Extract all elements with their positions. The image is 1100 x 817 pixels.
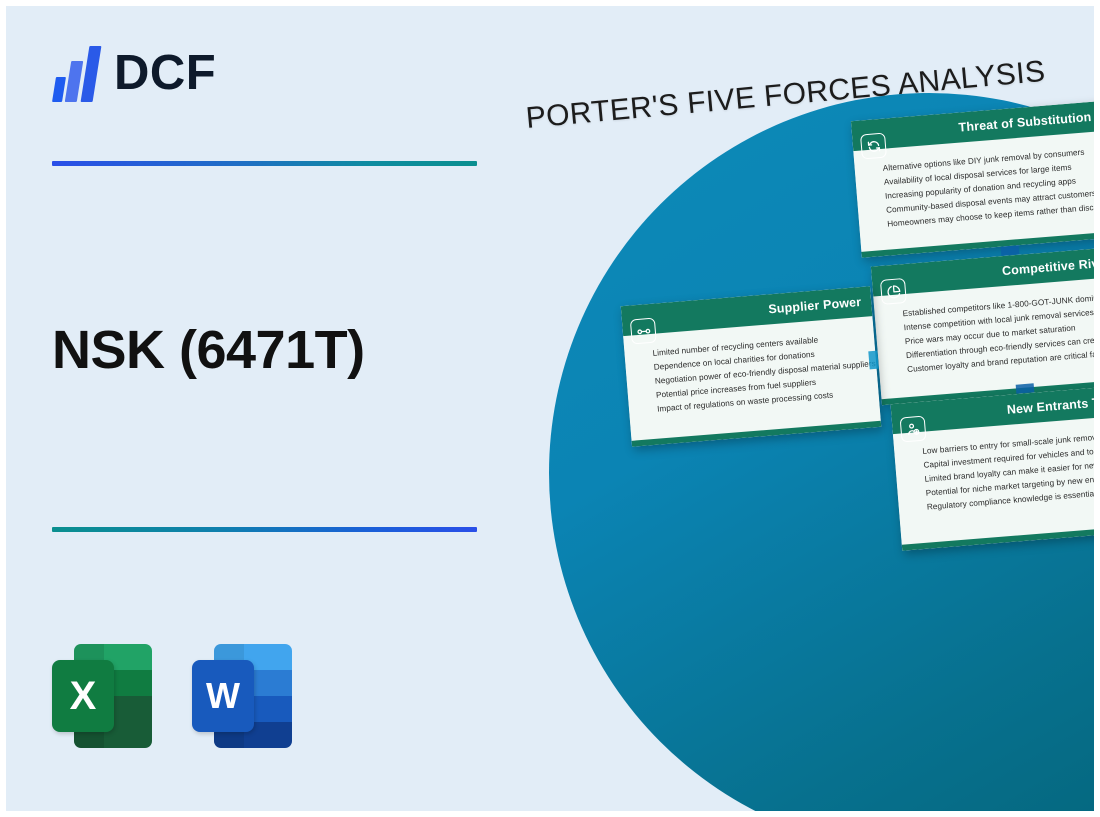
force-card-threat-of-substitution[interactable]: Threat of Substitution Alternative optio… <box>851 101 1100 258</box>
card-body: Limited number of recycling centers avai… <box>623 316 881 441</box>
card-body: Established competitors like 1-800-GOT-J… <box>873 276 1100 400</box>
porters-five-forces-panel: PORTER'S FIVE FORCES ANALYSIS Threat of … <box>546 6 1100 817</box>
brand-logo[interactable]: DCF <box>52 44 216 102</box>
export-format-row: X W <box>52 641 292 751</box>
card-point-list: Low barriers to entry for small-scale ju… <box>922 428 1100 515</box>
left-info-column: DCF NSK (6471T) X W <box>6 6 546 811</box>
card-point-list: Established competitors like 1-800-GOT-J… <box>902 289 1100 377</box>
connector-notch <box>1001 245 1020 255</box>
divider-top <box>52 161 477 166</box>
link-chain-icon <box>630 318 657 345</box>
card-title: Threat of Substitution <box>958 110 1092 135</box>
card-title: Supplier Power <box>768 295 862 316</box>
card-title: New Entrants Threat <box>1006 393 1100 417</box>
card-point-list: Limited number of recycling centers avai… <box>652 330 869 417</box>
excel-icon-letter: X <box>52 660 114 732</box>
page-root: DCF NSK (6471T) X W PORTE <box>0 0 1100 817</box>
force-card-supplier-power[interactable]: Supplier Power Limited number of recycli… <box>621 286 882 447</box>
word-icon[interactable]: W <box>192 641 292 751</box>
card-title: Competitive Rivalry <box>1002 255 1100 279</box>
page-title: NSK (6471T) <box>52 322 365 379</box>
excel-icon[interactable]: X <box>52 641 152 751</box>
card-body: Alternative options like DIY junk remova… <box>853 131 1100 252</box>
bar-chart-logo-icon <box>52 44 104 102</box>
word-icon-letter: W <box>192 660 254 732</box>
force-card-competitive-rivalry[interactable]: Competitive Rivalry Established competit… <box>871 246 1100 405</box>
card-point-list: Alternative options like DIY junk remova… <box>882 145 1099 232</box>
connector-notch <box>1016 383 1035 393</box>
brand-logo-text: DCF <box>114 49 216 98</box>
user-add-icon <box>900 416 927 443</box>
connector-notch <box>868 351 878 370</box>
divider-bottom <box>52 527 477 532</box>
force-card-new-entrants-threat[interactable]: New Entrants Threat Low barriers to entr… <box>891 384 1100 551</box>
refresh-sync-icon <box>860 133 887 160</box>
pie-chart-icon <box>880 278 907 305</box>
